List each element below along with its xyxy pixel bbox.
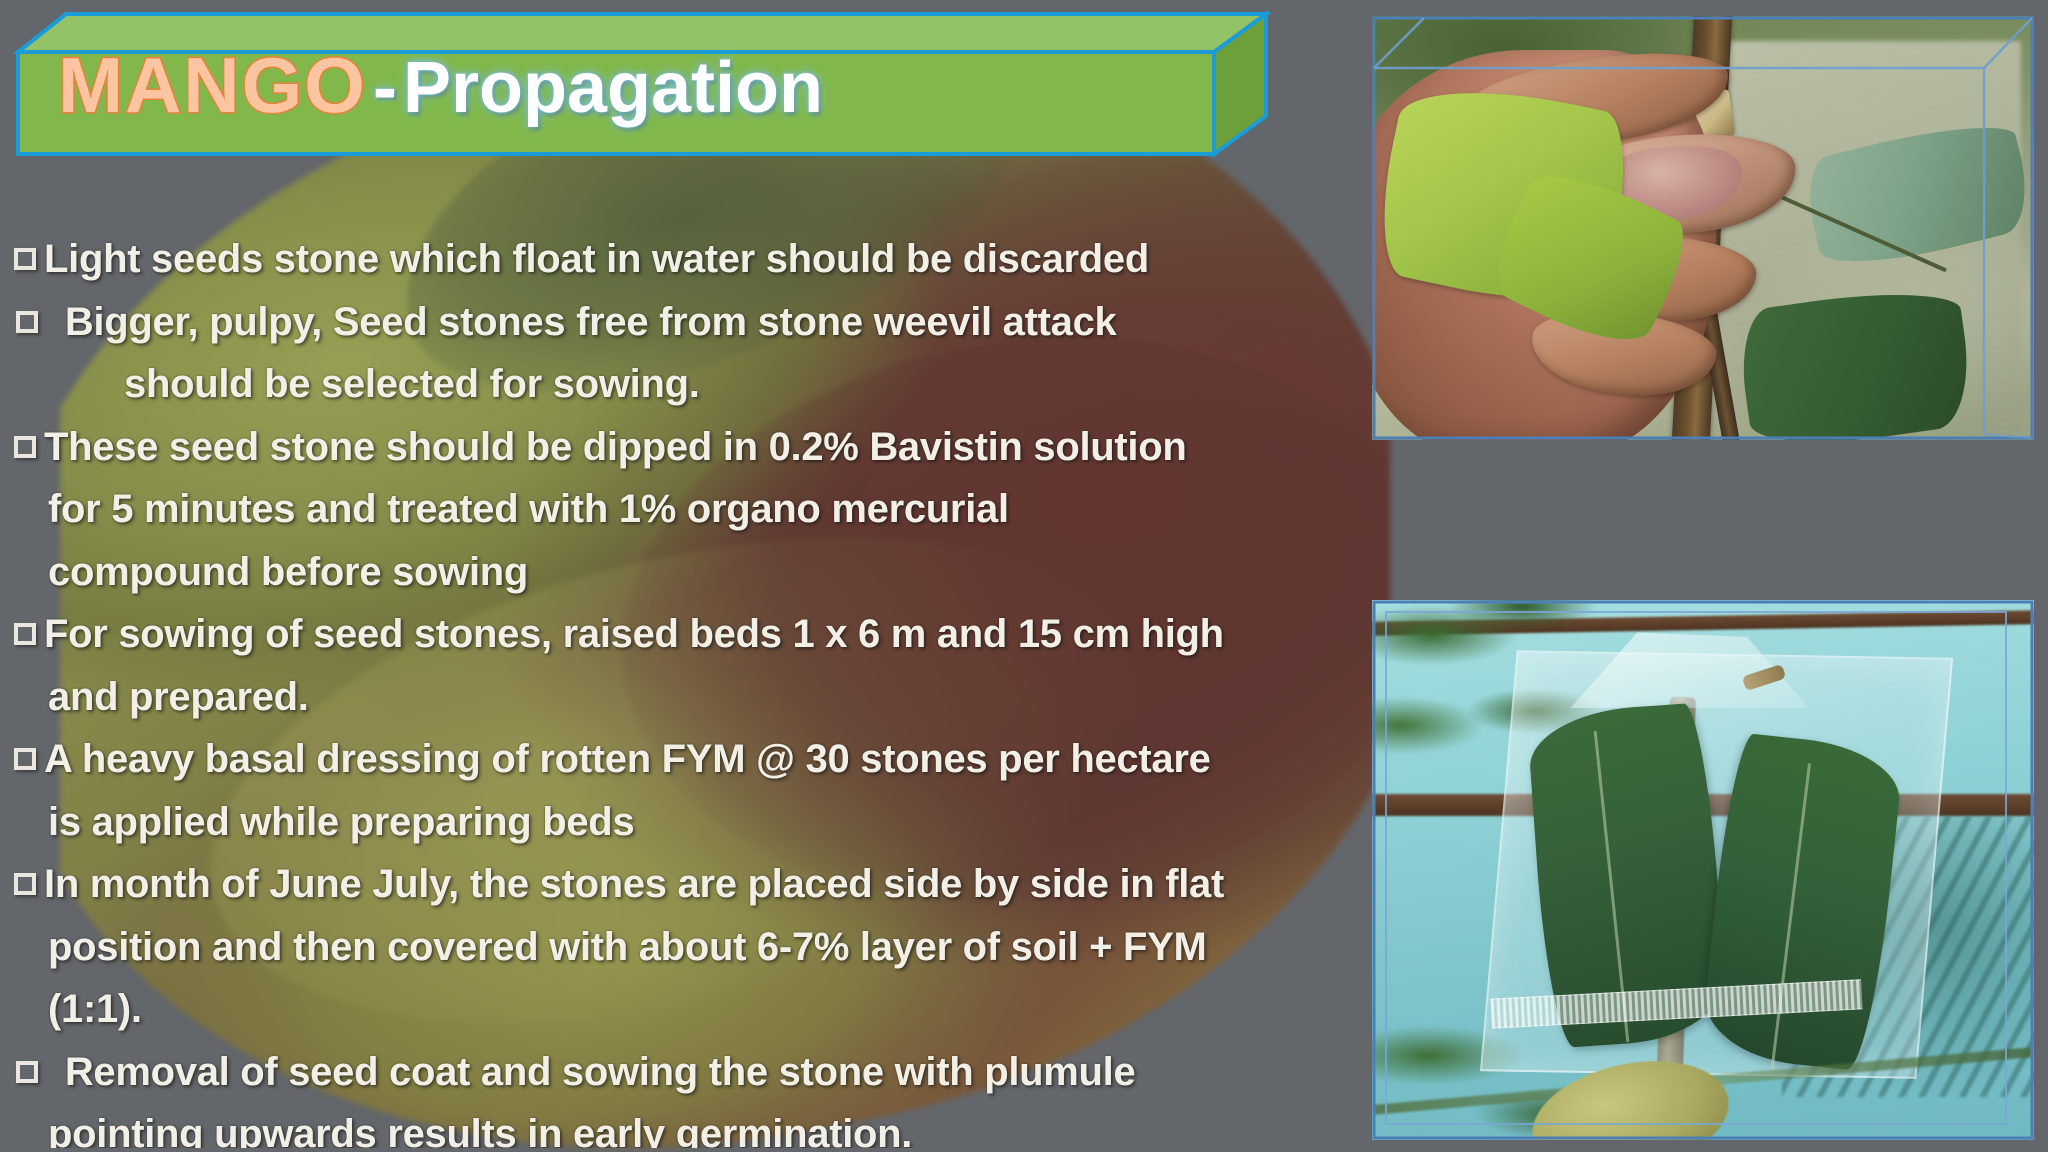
bullet-text: is applied while preparing beds — [48, 800, 634, 844]
bullet-line-continuation: pointing upwards results in early germin… — [14, 1103, 1394, 1148]
grafted-shoot-photo — [1372, 600, 2034, 1140]
square-bullet-icon — [14, 248, 36, 270]
bullet-text: position and then covered with about 6-7… — [48, 925, 1207, 969]
bullet-text: pointing upwards results in early germin… — [48, 1112, 912, 1148]
bullet-line: Removal of seed coat and sowing the ston… — [14, 1041, 1394, 1104]
bullet-line: A heavy basal dressing of rotten FYM @ 3… — [14, 728, 1394, 791]
bullet-text: should be selected for sowing. — [124, 362, 700, 406]
bullet-line-continuation: for 5 minutes and treated with 1% organo… — [14, 478, 1394, 541]
square-bullet-icon — [14, 436, 36, 458]
bullet-text: These seed stone should be dipped in 0.2… — [44, 425, 1187, 469]
bullet-line: In month of June July, the stones are pl… — [14, 853, 1394, 916]
square-bullet-icon — [16, 311, 38, 333]
bullet-line-continuation: compound before sowing — [14, 541, 1394, 604]
photo-scene — [1372, 600, 2034, 1140]
bullet-line: For sowing of seed stones, raised beds 1… — [14, 603, 1394, 666]
bullet-text: compound before sowing — [48, 550, 528, 594]
title-text-group: MANGO-Propagation — [58, 46, 1258, 124]
square-bullet-icon — [14, 873, 36, 895]
bullet-text: Bigger, pulpy, Seed stones free from sto… — [54, 300, 1117, 344]
bullet-text: (1:1). — [48, 987, 142, 1031]
bullet-text: A heavy basal dressing of rotten FYM @ 3… — [44, 737, 1211, 781]
bullet-text: Light seeds stone which float in water s… — [44, 237, 1149, 281]
bullet-text: Removal of seed coat and sowing the ston… — [54, 1050, 1135, 1094]
bullet-line-continuation: is applied while preparing beds — [14, 791, 1394, 854]
slide-canvas: MANGO-Propagation Light seeds stone whic… — [0, 0, 2048, 1152]
bullet-line: Bigger, pulpy, Seed stones free from sto… — [14, 291, 1394, 354]
bullet-list: Light seeds stone which float in water s… — [14, 228, 1394, 1148]
bullet-text: For sowing of seed stones, raised beds 1… — [44, 612, 1224, 656]
bullet-line-continuation: (1:1). — [14, 978, 1394, 1041]
bullet-text: In month of June July, the stones are pl… — [44, 862, 1224, 906]
grafting-hand-photo — [1372, 16, 2034, 440]
bullet-line: These seed stone should be dipped in 0.2… — [14, 416, 1394, 479]
title-propagation: Propagation — [403, 48, 823, 128]
square-bullet-icon — [14, 623, 36, 645]
square-bullet-icon — [14, 748, 36, 770]
bullet-text: and prepared. — [48, 675, 309, 719]
bullet-line-continuation: and prepared. — [14, 666, 1394, 729]
photo-scene — [1372, 16, 2034, 440]
title-banner: MANGO-Propagation — [14, 8, 1304, 158]
bullet-text: for 5 minutes and treated with 1% organo… — [48, 487, 1009, 531]
bullet-line-continuation: should be selected for sowing. — [14, 353, 1394, 416]
title-dash: - — [367, 48, 403, 128]
square-bullet-icon — [16, 1061, 38, 1083]
title-mango: MANGO — [58, 41, 367, 129]
bullet-line: Light seeds stone which float in water s… — [14, 228, 1394, 291]
bullet-line-continuation: position and then covered with about 6-7… — [14, 916, 1394, 979]
